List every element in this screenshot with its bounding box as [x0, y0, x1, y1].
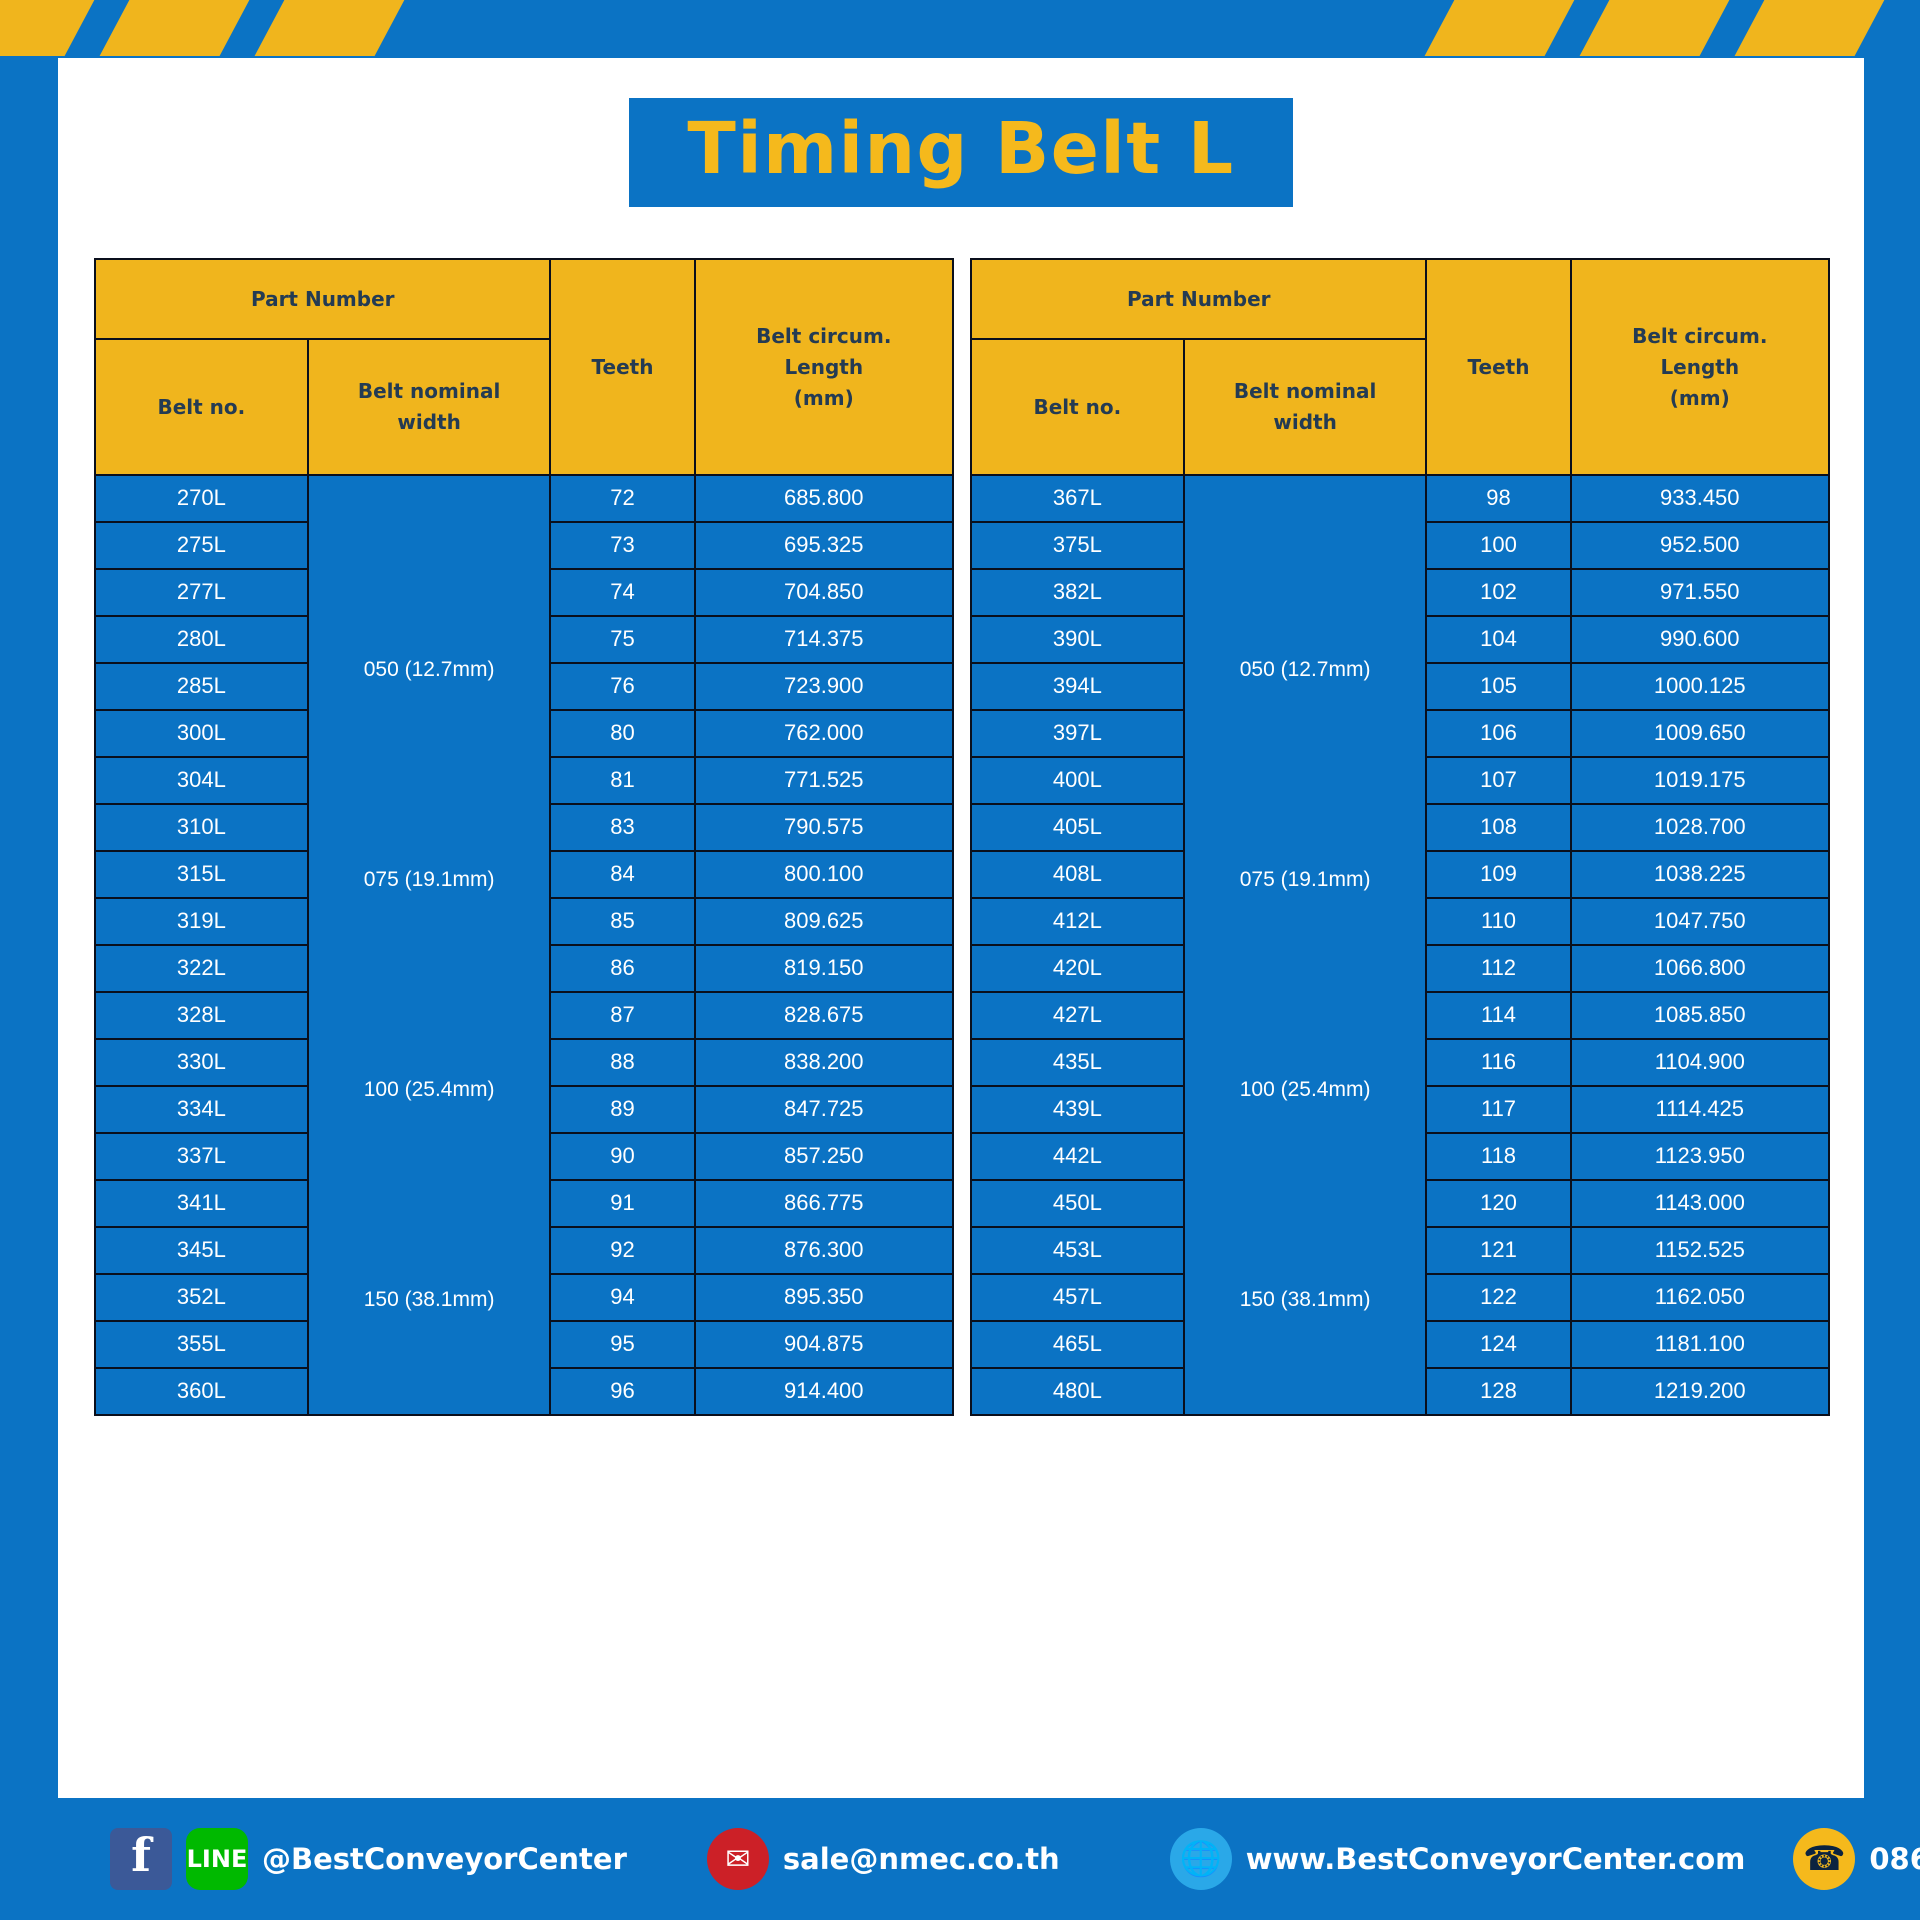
nominal-width-option: 050 (12.7mm) [1185, 658, 1426, 682]
cell-belt-no: 400L [972, 758, 1183, 803]
cell-belt-nominal-width: 050 (12.7mm)075 (19.1mm)100 (25.4mm)150 … [1185, 476, 1426, 1414]
cell-belt-no: 310L [96, 805, 307, 850]
table-row: 270L050 (12.7mm)075 (19.1mm)100 (25.4mm)… [96, 476, 952, 521]
cell-teeth: 90 [551, 1134, 693, 1179]
cell-belt-no: 341L [96, 1181, 307, 1226]
cell-belt-no: 457L [972, 1275, 1183, 1320]
header-belt-circum-length: Belt circum. Length (mm) [1572, 260, 1828, 474]
cell-teeth: 98 [1427, 476, 1569, 521]
cell-length: 952.500 [1572, 523, 1828, 568]
cell-teeth: 107 [1427, 758, 1569, 803]
cell-teeth: 89 [551, 1087, 693, 1132]
cell-belt-no: 394L [972, 664, 1183, 709]
cell-length: 857.250 [696, 1134, 952, 1179]
cell-length: 847.725 [696, 1087, 952, 1132]
cell-length: 1019.175 [1572, 758, 1828, 803]
table-header-row-1: Part Number Teeth Belt circum. Length (m… [972, 260, 1828, 338]
cell-belt-no: 300L [96, 711, 307, 756]
cell-teeth: 117 [1427, 1087, 1569, 1132]
cell-belt-no: 435L [972, 1040, 1183, 1085]
chevron-decoration [0, 0, 96, 56]
cell-belt-no: 270L [96, 476, 307, 521]
page-title: Timing Belt L [687, 112, 1234, 187]
footer-website[interactable]: 🌐 www.BestConveyorCenter.com [1170, 1828, 1746, 1890]
cell-teeth: 112 [1427, 946, 1569, 991]
header-nominal-line2: width [1187, 407, 1424, 438]
cell-belt-no: 480L [972, 1369, 1183, 1414]
nominal-width-option: 050 (12.7mm) [309, 658, 550, 682]
cell-teeth: 74 [551, 570, 693, 615]
cell-length: 685.800 [696, 476, 952, 521]
cell-belt-no: 405L [972, 805, 1183, 850]
facebook-icon[interactable]: f [110, 1828, 172, 1890]
cell-teeth: 128 [1427, 1369, 1569, 1414]
cell-length: 876.300 [696, 1228, 952, 1273]
cell-length: 866.775 [696, 1181, 952, 1226]
cell-length: 1152.525 [1572, 1228, 1828, 1273]
cell-teeth: 121 [1427, 1228, 1569, 1273]
nominal-width-option: 100 (25.4mm) [309, 1078, 550, 1102]
cell-belt-no: 330L [96, 1040, 307, 1085]
cell-belt-no: 412L [972, 899, 1183, 944]
cell-belt-no: 285L [96, 664, 307, 709]
cell-belt-no: 465L [972, 1322, 1183, 1367]
cell-length: 1000.125 [1572, 664, 1828, 709]
cell-length: 819.150 [696, 946, 952, 991]
left-table-wrapper: Part Number Teeth Belt circum. Length (m… [94, 258, 954, 1416]
cell-belt-no: 304L [96, 758, 307, 803]
nominal-width-option: 150 (38.1mm) [309, 1288, 550, 1312]
cell-length: 1104.900 [1572, 1040, 1828, 1085]
cell-belt-no: 427L [972, 993, 1183, 1038]
cell-length: 704.850 [696, 570, 952, 615]
cell-belt-no: 280L [96, 617, 307, 662]
footer-email-text[interactable]: sale@nmec.co.th [783, 1842, 1060, 1876]
cell-length: 800.100 [696, 852, 952, 897]
cell-belt-no: 345L [96, 1228, 307, 1273]
cell-belt-no: 319L [96, 899, 307, 944]
cell-length: 838.200 [696, 1040, 952, 1085]
cell-belt-no: 390L [972, 617, 1183, 662]
left-table-body: 270L050 (12.7mm)075 (19.1mm)100 (25.4mm)… [96, 476, 952, 1414]
cell-belt-no: 334L [96, 1087, 307, 1132]
header-belt-no: Belt no. [972, 340, 1183, 474]
header-belt-nominal-width: Belt nominal width [309, 340, 550, 474]
cell-teeth: 114 [1427, 993, 1569, 1038]
right-table-body: 367L050 (12.7mm)075 (19.1mm)100 (25.4mm)… [972, 476, 1828, 1414]
cell-teeth: 116 [1427, 1040, 1569, 1085]
timing-belt-table-right: Part Number Teeth Belt circum. Length (m… [970, 258, 1830, 1416]
footer-social[interactable]: f LINE @BestConveyorCenter [110, 1828, 627, 1890]
header-nominal-line2: width [311, 407, 548, 438]
cell-length: 1028.700 [1572, 805, 1828, 850]
cell-length: 762.000 [696, 711, 952, 756]
cell-teeth: 94 [551, 1275, 693, 1320]
cell-length: 714.375 [696, 617, 952, 662]
cell-length: 695.325 [696, 523, 952, 568]
table-header-row-1: Part Number Teeth Belt circum. Length (m… [96, 260, 952, 338]
header-part-number: Part Number [972, 260, 1425, 338]
cell-length: 914.400 [696, 1369, 952, 1414]
chevron-decoration [1734, 0, 1887, 56]
header-mm-line: (mm) [698, 383, 950, 414]
cell-belt-no: 352L [96, 1275, 307, 1320]
cell-length: 933.450 [1572, 476, 1828, 521]
cell-teeth: 76 [551, 664, 693, 709]
nominal-width-list: 050 (12.7mm)075 (19.1mm)100 (25.4mm)150 … [1185, 565, 1426, 1405]
title-banner: Timing Belt L [58, 98, 1864, 207]
header-belt-circum-line: Belt circum. [698, 321, 950, 352]
cell-belt-no: 328L [96, 993, 307, 1038]
cell-belt-no: 382L [972, 570, 1183, 615]
header-belt-nominal-width: Belt nominal width [1185, 340, 1426, 474]
cell-belt-no: 337L [96, 1134, 307, 1179]
cell-teeth: 102 [1427, 570, 1569, 615]
cell-belt-no: 397L [972, 711, 1183, 756]
footer-bar: f LINE @BestConveyorCenter ✉ sale@nmec.c… [0, 1798, 1920, 1920]
cell-teeth: 122 [1427, 1275, 1569, 1320]
cell-belt-no: 315L [96, 852, 307, 897]
cell-teeth: 91 [551, 1181, 693, 1226]
footer-email[interactable]: ✉ sale@nmec.co.th [707, 1828, 1060, 1890]
cell-belt-no: 277L [96, 570, 307, 615]
table-row: 367L050 (12.7mm)075 (19.1mm)100 (25.4mm)… [972, 476, 1828, 521]
cell-length: 1038.225 [1572, 852, 1828, 897]
cell-length: 809.625 [696, 899, 952, 944]
content-card: Timing Belt L Part Number Teeth Bel [58, 58, 1864, 1798]
cell-teeth: 100 [1427, 523, 1569, 568]
nominal-width-option: 100 (25.4mm) [1185, 1078, 1426, 1102]
cell-belt-nominal-width: 050 (12.7mm)075 (19.1mm)100 (25.4mm)150 … [309, 476, 550, 1414]
cell-length: 1047.750 [1572, 899, 1828, 944]
phone-icon[interactable]: ☎ [1793, 1828, 1855, 1890]
footer-phone[interactable]: ☎ 086-3272600 , 02-0017766 [1793, 1828, 1920, 1890]
cell-teeth: 86 [551, 946, 693, 991]
title-box: Timing Belt L [629, 98, 1292, 207]
cell-teeth: 80 [551, 711, 693, 756]
header-nominal-line1: Belt nominal [311, 376, 548, 407]
cell-teeth: 72 [551, 476, 693, 521]
cell-length: 1114.425 [1572, 1087, 1828, 1132]
cell-teeth: 73 [551, 523, 693, 568]
cell-teeth: 96 [551, 1369, 693, 1414]
cell-belt-no: 450L [972, 1181, 1183, 1226]
timing-belt-table-left: Part Number Teeth Belt circum. Length (m… [94, 258, 954, 1416]
header-teeth: Teeth [1427, 260, 1569, 474]
poster-page: Timing Belt L Part Number Teeth Bel [0, 0, 1920, 1920]
cell-belt-no: 408L [972, 852, 1183, 897]
cell-teeth: 110 [1427, 899, 1569, 944]
cell-teeth: 85 [551, 899, 693, 944]
cell-belt-no: 360L [96, 1369, 307, 1414]
cell-length: 1085.850 [1572, 993, 1828, 1038]
cell-length: 904.875 [696, 1322, 952, 1367]
cell-belt-no: 439L [972, 1087, 1183, 1132]
chevron-decoration [99, 0, 252, 56]
cell-length: 1162.050 [1572, 1275, 1828, 1320]
cell-length: 1219.200 [1572, 1369, 1828, 1414]
footer-facebook-handle[interactable]: @BestConveyorCenter [262, 1842, 627, 1876]
cell-belt-no: 420L [972, 946, 1183, 991]
cell-teeth: 83 [551, 805, 693, 850]
cell-teeth: 118 [1427, 1134, 1569, 1179]
cell-teeth: 124 [1427, 1322, 1569, 1367]
cell-teeth: 75 [551, 617, 693, 662]
header-belt-circum-length: Belt circum. Length (mm) [696, 260, 952, 474]
cell-length: 1123.950 [1572, 1134, 1828, 1179]
tables-container: Part Number Teeth Belt circum. Length (m… [94, 258, 1830, 1416]
cell-belt-no: 322L [96, 946, 307, 991]
cell-belt-no: 375L [972, 523, 1183, 568]
cell-teeth: 105 [1427, 664, 1569, 709]
cell-teeth: 84 [551, 852, 693, 897]
cell-belt-no: 442L [972, 1134, 1183, 1179]
top-chevron-band [0, 0, 1920, 56]
header-length-line: Length [698, 352, 950, 383]
cell-length: 1009.650 [1572, 711, 1828, 756]
cell-length: 971.550 [1572, 570, 1828, 615]
header-belt-no: Belt no. [96, 340, 307, 474]
chevron-decoration [1579, 0, 1732, 56]
cell-belt-no: 453L [972, 1228, 1183, 1273]
cell-teeth: 87 [551, 993, 693, 1038]
cell-length: 1143.000 [1572, 1181, 1828, 1226]
nominal-width-option: 150 (38.1mm) [1185, 1288, 1426, 1312]
header-belt-circum-line: Belt circum. [1574, 321, 1826, 352]
chevron-decoration [1424, 0, 1577, 56]
cell-length: 1066.800 [1572, 946, 1828, 991]
footer-website-text[interactable]: www.BestConveyorCenter.com [1246, 1842, 1746, 1876]
cell-teeth: 106 [1427, 711, 1569, 756]
cell-teeth: 104 [1427, 617, 1569, 662]
globe-icon[interactable]: 🌐 [1170, 1828, 1232, 1890]
right-table-wrapper: Part Number Teeth Belt circum. Length (m… [970, 258, 1830, 1416]
cell-teeth: 109 [1427, 852, 1569, 897]
header-part-number: Part Number [96, 260, 549, 338]
cell-teeth: 81 [551, 758, 693, 803]
nominal-width-option: 075 (19.1mm) [1185, 868, 1426, 892]
cell-teeth: 92 [551, 1228, 693, 1273]
cell-belt-no: 355L [96, 1322, 307, 1367]
cell-length: 771.525 [696, 758, 952, 803]
header-teeth: Teeth [551, 260, 693, 474]
nominal-width-option: 075 (19.1mm) [309, 868, 550, 892]
cell-teeth: 88 [551, 1040, 693, 1085]
cell-length: 1181.100 [1572, 1322, 1828, 1367]
cell-length: 990.600 [1572, 617, 1828, 662]
cell-length: 895.350 [696, 1275, 952, 1320]
footer-phone-text[interactable]: 086-3272600 , 02-0017766 [1869, 1842, 1920, 1876]
mail-icon[interactable]: ✉ [707, 1828, 769, 1890]
cell-belt-no: 275L [96, 523, 307, 568]
cell-teeth: 95 [551, 1322, 693, 1367]
nominal-width-list: 050 (12.7mm)075 (19.1mm)100 (25.4mm)150 … [309, 565, 550, 1405]
cell-length: 828.675 [696, 993, 952, 1038]
cell-length: 723.900 [696, 664, 952, 709]
cell-teeth: 120 [1427, 1181, 1569, 1226]
cell-belt-no: 367L [972, 476, 1183, 521]
header-nominal-line1: Belt nominal [1187, 376, 1424, 407]
line-icon[interactable]: LINE [186, 1828, 248, 1890]
header-mm-line: (mm) [1574, 383, 1826, 414]
cell-length: 790.575 [696, 805, 952, 850]
header-length-line: Length [1574, 352, 1826, 383]
cell-teeth: 108 [1427, 805, 1569, 850]
chevron-decoration [254, 0, 407, 56]
